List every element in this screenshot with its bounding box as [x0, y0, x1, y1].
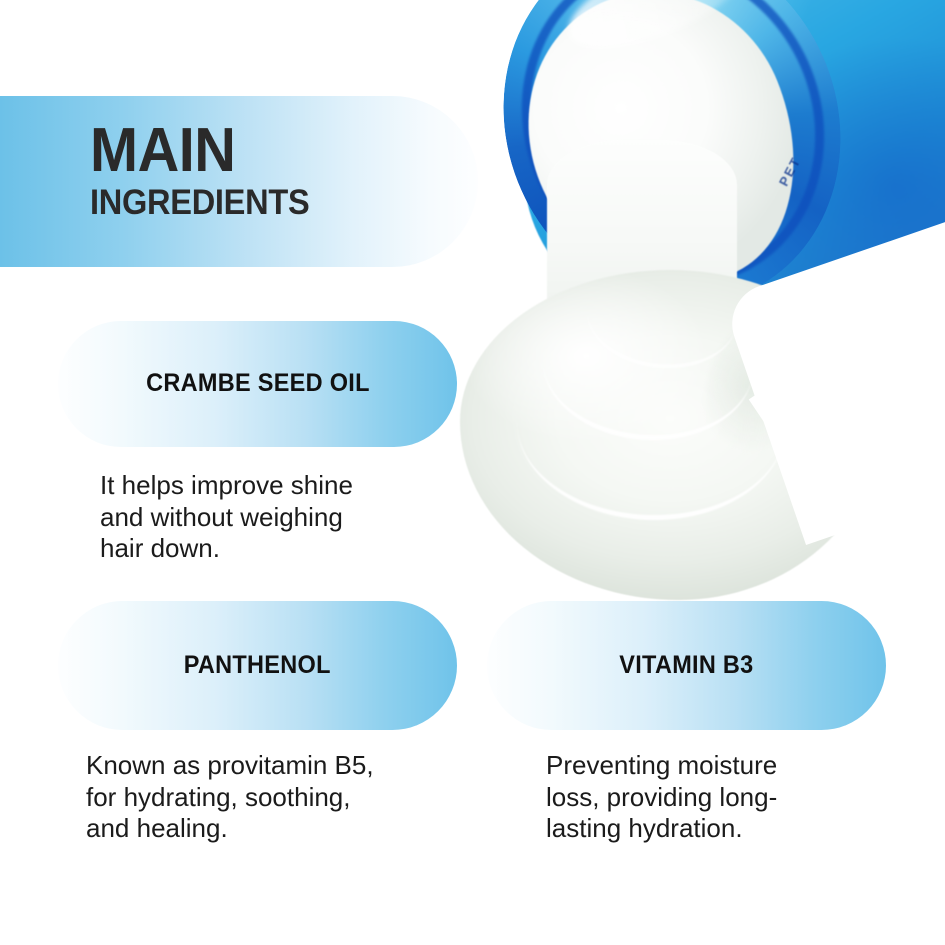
ingredient-label-crambe: CRAMBE SEED OIL: [146, 368, 370, 399]
product-photo: PET: [455, 0, 945, 630]
page-title-sub: INGREDIENTS: [90, 185, 443, 222]
header-text-group: MAIN INGREDIENTS: [90, 122, 470, 222]
ingredient-description-panthenol: Known as provitamin B5, for hydrating, s…: [86, 750, 406, 845]
page-title-main: MAIN: [90, 122, 443, 179]
ingredient-label-panthenol: PANTHENOL: [184, 650, 331, 681]
ingredient-pill-panthenol[interactable]: PANTHENOL: [58, 601, 457, 730]
ingredient-description-vitaminb3: Preventing moisture loss, providing long…: [546, 750, 866, 845]
ingredient-label-vitaminb3: VITAMIN B3: [619, 650, 753, 681]
ingredient-pill-vitaminb3[interactable]: VITAMIN B3: [487, 601, 886, 730]
ingredient-description-crambe: It helps improve shine and without weigh…: [100, 470, 400, 565]
infographic-canvas: PET MAIN INGREDIENTS CRAMBE SEED OIL It …: [0, 0, 945, 945]
ingredient-pill-crambe[interactable]: CRAMBE SEED OIL: [58, 321, 457, 447]
